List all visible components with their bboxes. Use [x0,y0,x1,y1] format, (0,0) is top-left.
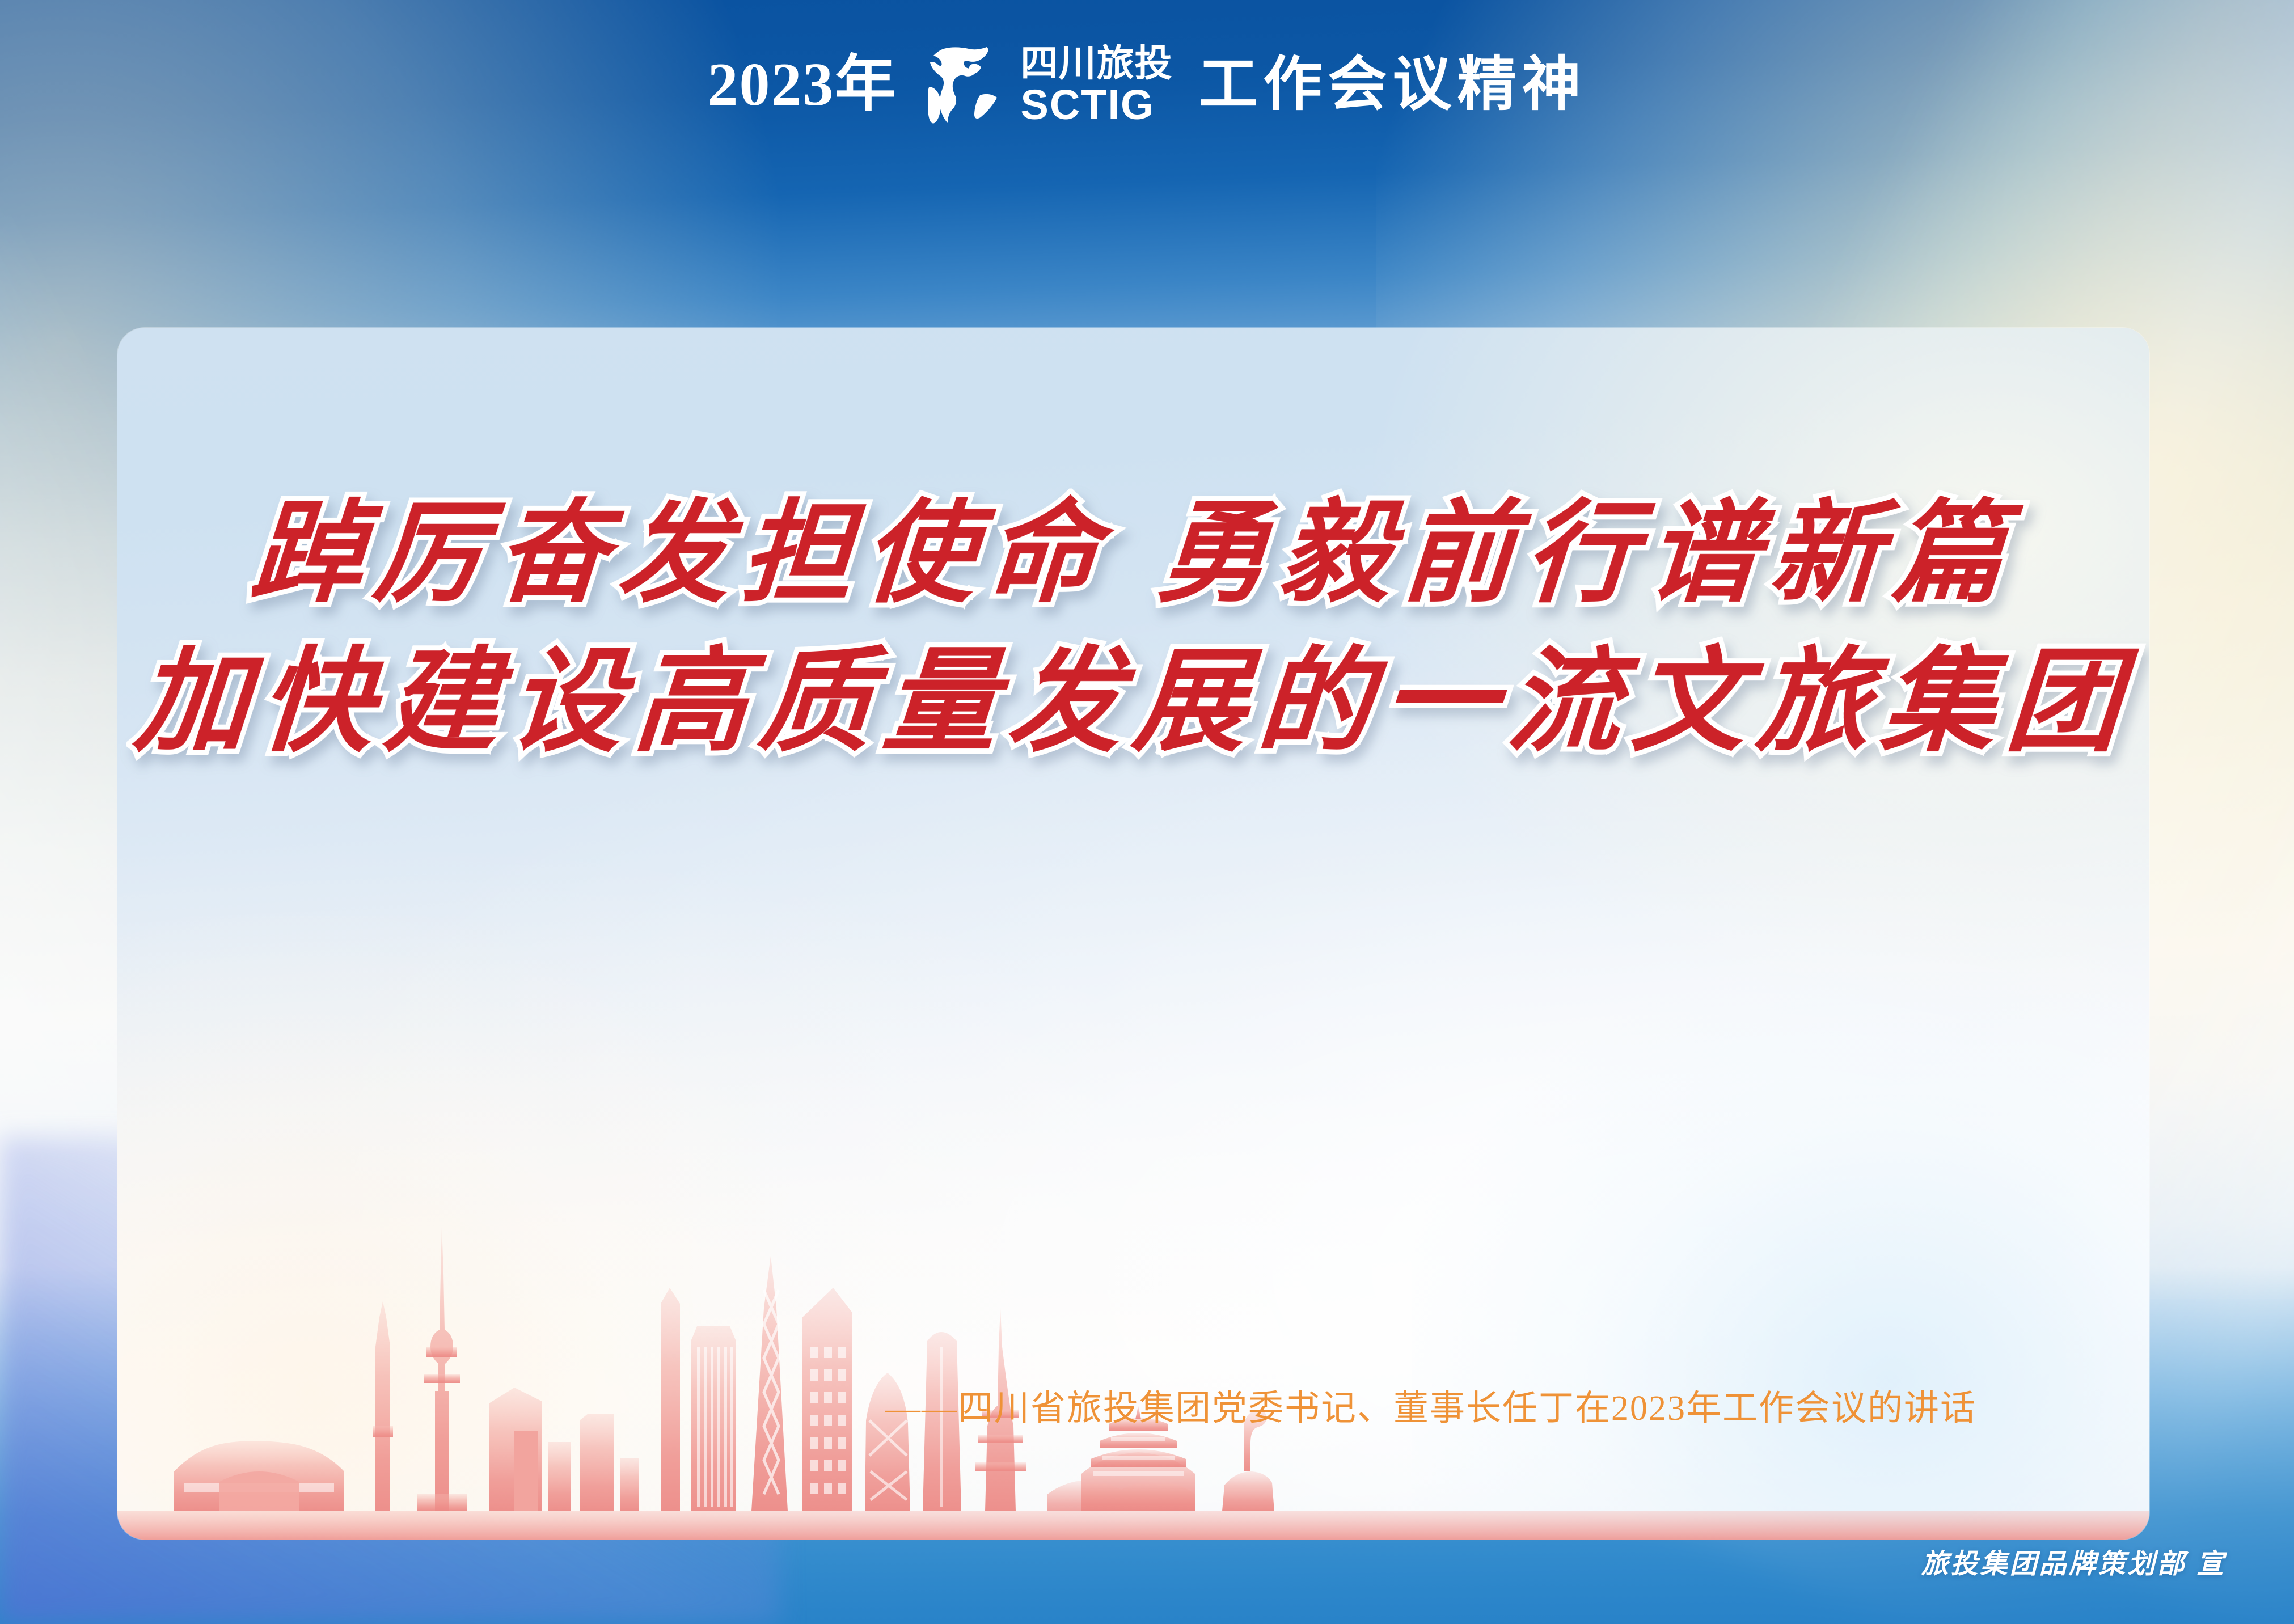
header-suffix-label: 工作会议精神 [1199,56,1587,115]
title-line-2: 加快建设高质量发展的一流文旅集团 [117,645,2149,761]
sctig-logo: 四川旅投 SCTIG [923,44,1173,126]
title-line-1-part-1: 踔厉奋发担使命 [247,493,1113,616]
main-title-block: 踔厉奋发担使命勇毅前行谱新篇 加快建设高质量发展的一流文旅集团 [117,498,2149,761]
poster-header: 2023年 四川旅投 SCTIG 工作会议精神 [0,0,2294,170]
publisher-credit: 旅投集团品牌策划部 宣 [1921,1551,2226,1578]
globe-world-map-icon [923,45,1008,125]
card-glow-bottom-right [1412,972,2149,1540]
title-line-1-part-2: 勇毅前行谱新篇 [1154,493,2020,616]
logo-cn-name: 四川旅投 [1021,44,1173,82]
title-line-1: 踔厉奋发担使命勇毅前行谱新篇 [117,498,2149,611]
content-card: 踔厉奋发担使命勇毅前行谱新篇 加快建设高质量发展的一流文旅集团 ——四川省旅投集… [117,328,2149,1540]
header-year-label: 2023年 [707,54,897,116]
card-glow-bottom-left [117,916,821,1540]
attribution-line: ——四川省旅投集团党委书记、董事长任丁在2023年工作会议的讲话 [885,1391,1976,1426]
logo-en-name: SCTIG [1021,84,1155,126]
logo-wordmark: 四川旅投 SCTIG [1021,44,1173,126]
